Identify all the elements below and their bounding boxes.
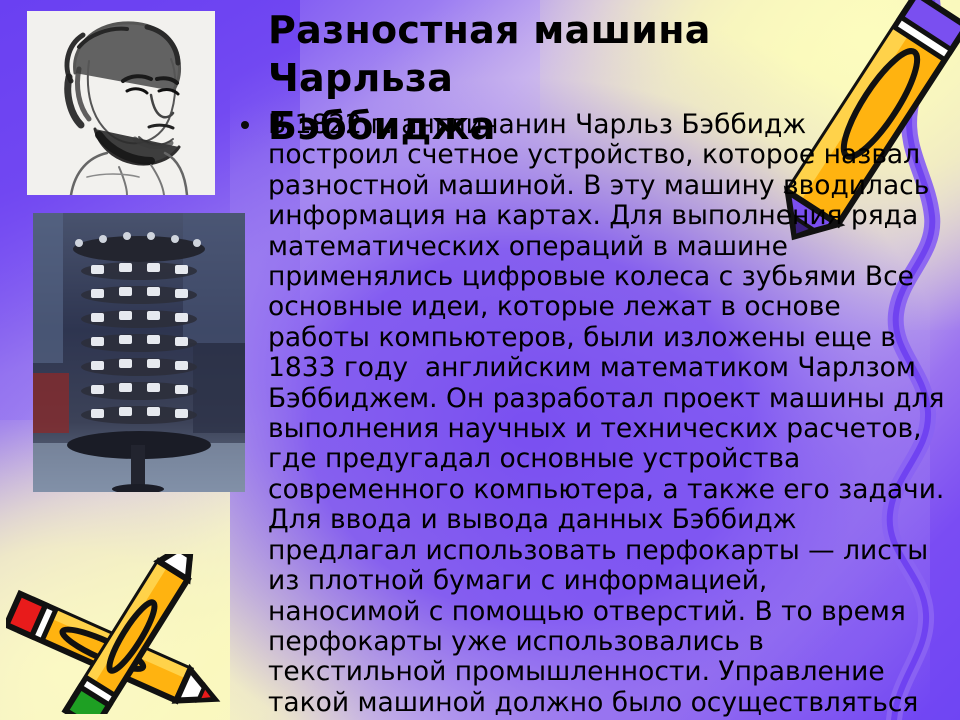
portrait-charles-babbage	[27, 11, 215, 195]
title-line-1: Разностная машина Чарльза	[268, 8, 711, 100]
body-line: основные идеи, которые лежат в основе	[268, 292, 940, 322]
body-line: Для ввода и вывода данных Бэббидж	[268, 505, 940, 535]
body-line: 1833 году английским математиком Чарлзом	[268, 353, 940, 383]
body-line: перфокарты уже использовались в	[268, 627, 940, 657]
body-line: Бэббиджем. Он разработал проект машины д…	[268, 384, 940, 414]
body-line: предлагал использовать перфокарты — лист…	[268, 536, 940, 566]
body-line: такой машиной должно было осуществляться	[268, 688, 940, 718]
body-line: построил счетное устройство, которое наз…	[268, 140, 940, 170]
body-line: из плотной бумаги с информацией,	[268, 566, 940, 596]
bullet-marker	[241, 121, 249, 129]
body-paragraph: В 1822 г. англичанин Чарльз Бэббиджпостр…	[268, 110, 940, 720]
crossed-pencils-illustration	[6, 554, 261, 714]
body-line: математических операций в машине	[268, 232, 940, 262]
body-line: применялись цифровые колеса с зубьями Вс…	[268, 262, 940, 292]
body-line: где предугадал основные устройства	[268, 444, 940, 474]
body-line: наносимой с помощью отверстий. В то врем…	[268, 597, 940, 627]
body-line: работы компьютеров, были изложены еще в	[268, 323, 940, 353]
body-line: современного компьютера, а также его зад…	[268, 475, 940, 505]
photo-difference-engine	[33, 213, 245, 492]
difference-engine-art	[33, 213, 245, 492]
body-line: информация на картах. Для выполнения ряд…	[268, 201, 940, 231]
body-line: текстильной промышленности. Управление	[268, 657, 940, 687]
presentation-slide: Разностная машина Чарльза Бэббиджа В 182…	[0, 0, 960, 720]
body-line: выполнения научных и технических расчето…	[268, 414, 940, 444]
body-line: В 1822 г. англичанин Чарльз Бэббидж	[268, 110, 940, 140]
portrait-sketch-art	[27, 11, 215, 195]
body-line: разностной машиной. В эту машину вводила…	[268, 171, 940, 201]
